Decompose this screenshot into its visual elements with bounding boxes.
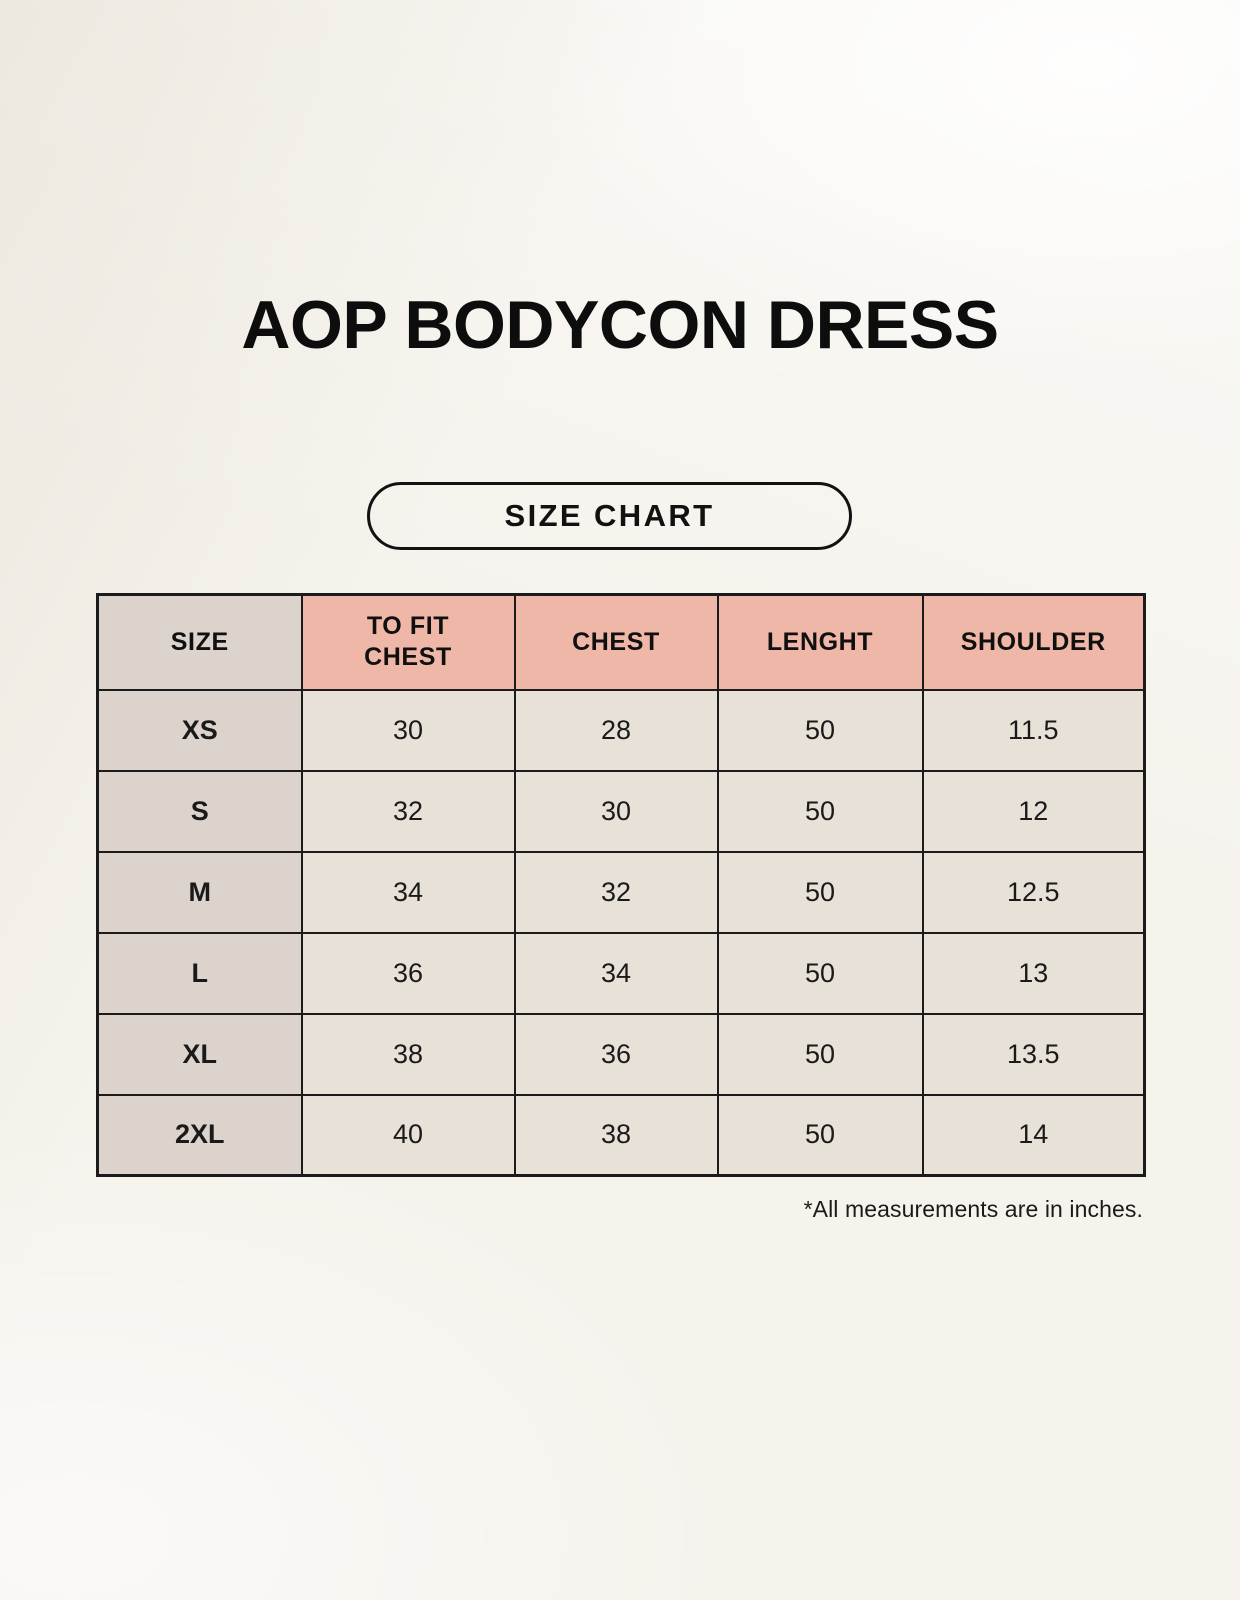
cell-chest: 34 [515, 933, 718, 1014]
table-row: XS 30 28 50 11.5 [98, 690, 1145, 771]
column-header-shoulder: SHOULDER [923, 595, 1145, 690]
column-header-to-fit-chest-line1: TO FIT [303, 611, 514, 642]
cell-shoulder: 12.5 [923, 852, 1145, 933]
cell-to-fit-chest: 40 [302, 1095, 515, 1176]
table-header: SIZE TO FIT CHEST CHEST LENGHT SHOULDER [98, 595, 1145, 690]
size-table-container: SIZE TO FIT CHEST CHEST LENGHT SHOULDER … [96, 593, 1143, 1177]
column-header-to-fit-chest: TO FIT CHEST [302, 595, 515, 690]
table-row: S 32 30 50 12 [98, 771, 1145, 852]
cell-chest: 28 [515, 690, 718, 771]
cell-shoulder: 12 [923, 771, 1145, 852]
cell-chest: 30 [515, 771, 718, 852]
cell-chest: 36 [515, 1014, 718, 1095]
cell-lenght: 50 [718, 690, 923, 771]
cell-lenght: 50 [718, 933, 923, 1014]
cell-chest: 38 [515, 1095, 718, 1176]
cell-lenght: 50 [718, 771, 923, 852]
table-header-row: SIZE TO FIT CHEST CHEST LENGHT SHOULDER [98, 595, 1145, 690]
cell-size: S [98, 771, 302, 852]
cell-size: 2XL [98, 1095, 302, 1176]
cell-lenght: 50 [718, 852, 923, 933]
cell-to-fit-chest: 30 [302, 690, 515, 771]
size-chart-page: AOP BODYCON DRESS SIZE CHART SIZE TO FIT… [0, 0, 1240, 1600]
table-body: XS 30 28 50 11.5 S 32 30 50 12 M 34 32 [98, 690, 1145, 1176]
measurements-footnote: *All measurements are in inches. [96, 1196, 1143, 1223]
cell-shoulder: 11.5 [923, 690, 1145, 771]
table-row: 2XL 40 38 50 14 [98, 1095, 1145, 1176]
column-header-lenght: LENGHT [718, 595, 923, 690]
column-header-to-fit-chest-line2: CHEST [303, 642, 514, 673]
cell-lenght: 50 [718, 1095, 923, 1176]
page-title: AOP BODYCON DRESS [0, 288, 1240, 362]
table-row: XL 38 36 50 13.5 [98, 1014, 1145, 1095]
cell-to-fit-chest: 34 [302, 852, 515, 933]
cell-shoulder: 13.5 [923, 1014, 1145, 1095]
cell-lenght: 50 [718, 1014, 923, 1095]
column-header-chest: CHEST [515, 595, 718, 690]
size-chart-table: SIZE TO FIT CHEST CHEST LENGHT SHOULDER … [96, 593, 1146, 1177]
cell-shoulder: 13 [923, 933, 1145, 1014]
cell-size: M [98, 852, 302, 933]
table-row: M 34 32 50 12.5 [98, 852, 1145, 933]
size-chart-badge: SIZE CHART [367, 482, 852, 550]
cell-chest: 32 [515, 852, 718, 933]
column-header-size: SIZE [98, 595, 302, 690]
table-row: L 36 34 50 13 [98, 933, 1145, 1014]
cell-to-fit-chest: 38 [302, 1014, 515, 1095]
size-chart-badge-label: SIZE CHART [505, 498, 715, 534]
cell-shoulder: 14 [923, 1095, 1145, 1176]
cell-size: L [98, 933, 302, 1014]
cell-to-fit-chest: 36 [302, 933, 515, 1014]
cell-size: XL [98, 1014, 302, 1095]
cell-size: XS [98, 690, 302, 771]
cell-to-fit-chest: 32 [302, 771, 515, 852]
